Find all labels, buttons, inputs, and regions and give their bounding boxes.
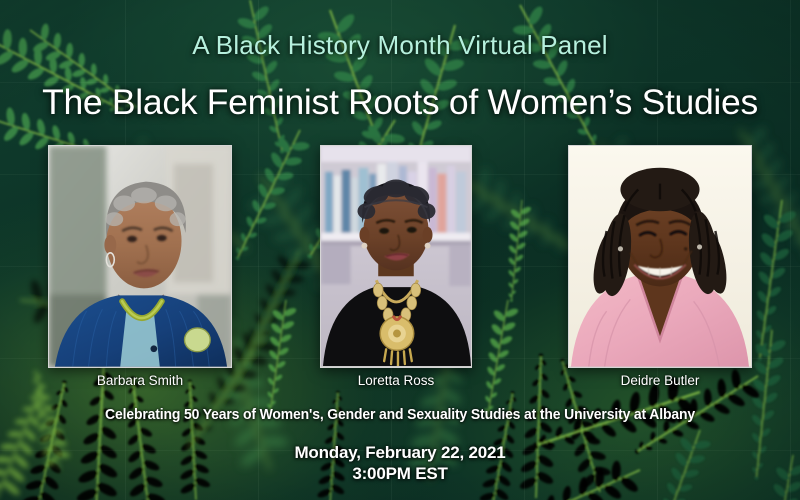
panelist-photo-barbara-smith — [48, 145, 232, 368]
panelist-photo-loretta-ross — [320, 145, 472, 368]
event-time: 3:00PM EST — [0, 464, 800, 484]
panelist-list: Barbara Smith — [0, 145, 800, 395]
panelist-card: Loretta Ross — [320, 145, 472, 368]
panelist-name: Barbara Smith — [97, 373, 183, 388]
event-date: Monday, February 22, 2021 — [0, 443, 800, 463]
panelist-name: Loretta Ross — [358, 373, 435, 388]
page-title: The Black Feminist Roots of Women’s Stud… — [0, 82, 800, 123]
event-poster: A Black History Month Virtual Panel The … — [0, 0, 800, 500]
panelist-name: Deidre Butler — [621, 373, 700, 388]
panelist-card: Deidre Butler — [568, 145, 752, 368]
panelist-card: Barbara Smith — [48, 145, 232, 368]
poster-tagline: Celebrating 50 Years of Women's, Gender … — [28, 406, 772, 423]
panelist-photo-deidre-butler — [568, 145, 752, 368]
poster-kicker: A Black History Month Virtual Panel — [0, 30, 800, 61]
